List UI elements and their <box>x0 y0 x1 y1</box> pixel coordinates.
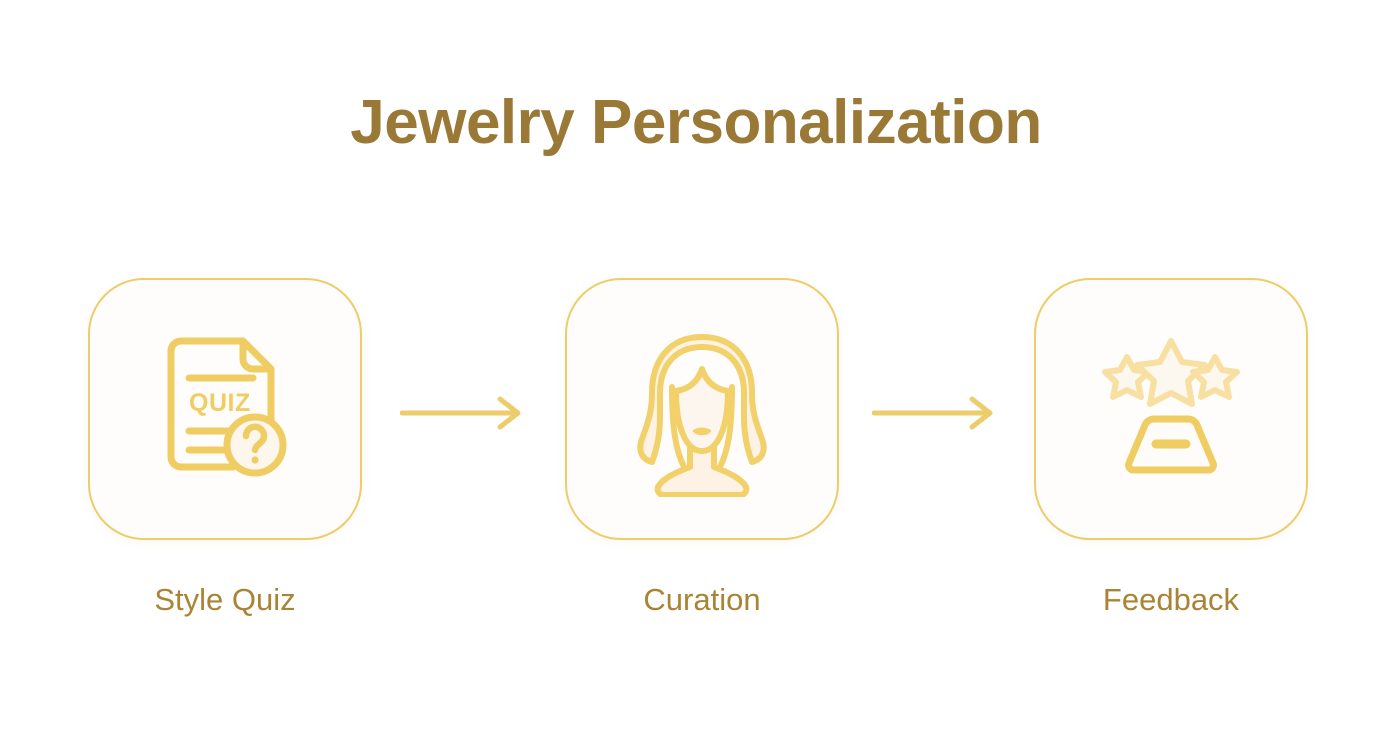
step-curation[interactable]: Curation <box>565 278 839 615</box>
star-rating-podium-icon <box>1083 321 1259 497</box>
quiz-document-icon: QUIZ <box>137 321 313 497</box>
step-style-quiz[interactable]: QUIZ Style Quiz <box>88 278 362 615</box>
step-card-style-quiz[interactable]: QUIZ <box>88 278 362 540</box>
process-steps-row: QUIZ Style Quiz <box>0 278 1392 638</box>
step-card-feedback[interactable] <box>1034 278 1308 540</box>
step-label-curation: Curation <box>565 584 839 615</box>
page-title: Jewelry Personalization <box>0 92 1392 154</box>
step-card-curation[interactable] <box>565 278 839 540</box>
arrow-step1-to-step2-icon <box>400 393 526 433</box>
step-label-style-quiz: Style Quiz <box>88 584 362 615</box>
svg-text:QUIZ: QUIZ <box>189 389 251 417</box>
step-label-feedback: Feedback <box>1034 584 1308 615</box>
woman-portrait-icon <box>614 321 790 497</box>
arrow-step2-to-step3-icon <box>872 393 998 433</box>
step-feedback[interactable]: Feedback <box>1034 278 1308 615</box>
jewelry-personalization-infographic: Jewelry Personalization QUIZ <box>0 0 1392 752</box>
